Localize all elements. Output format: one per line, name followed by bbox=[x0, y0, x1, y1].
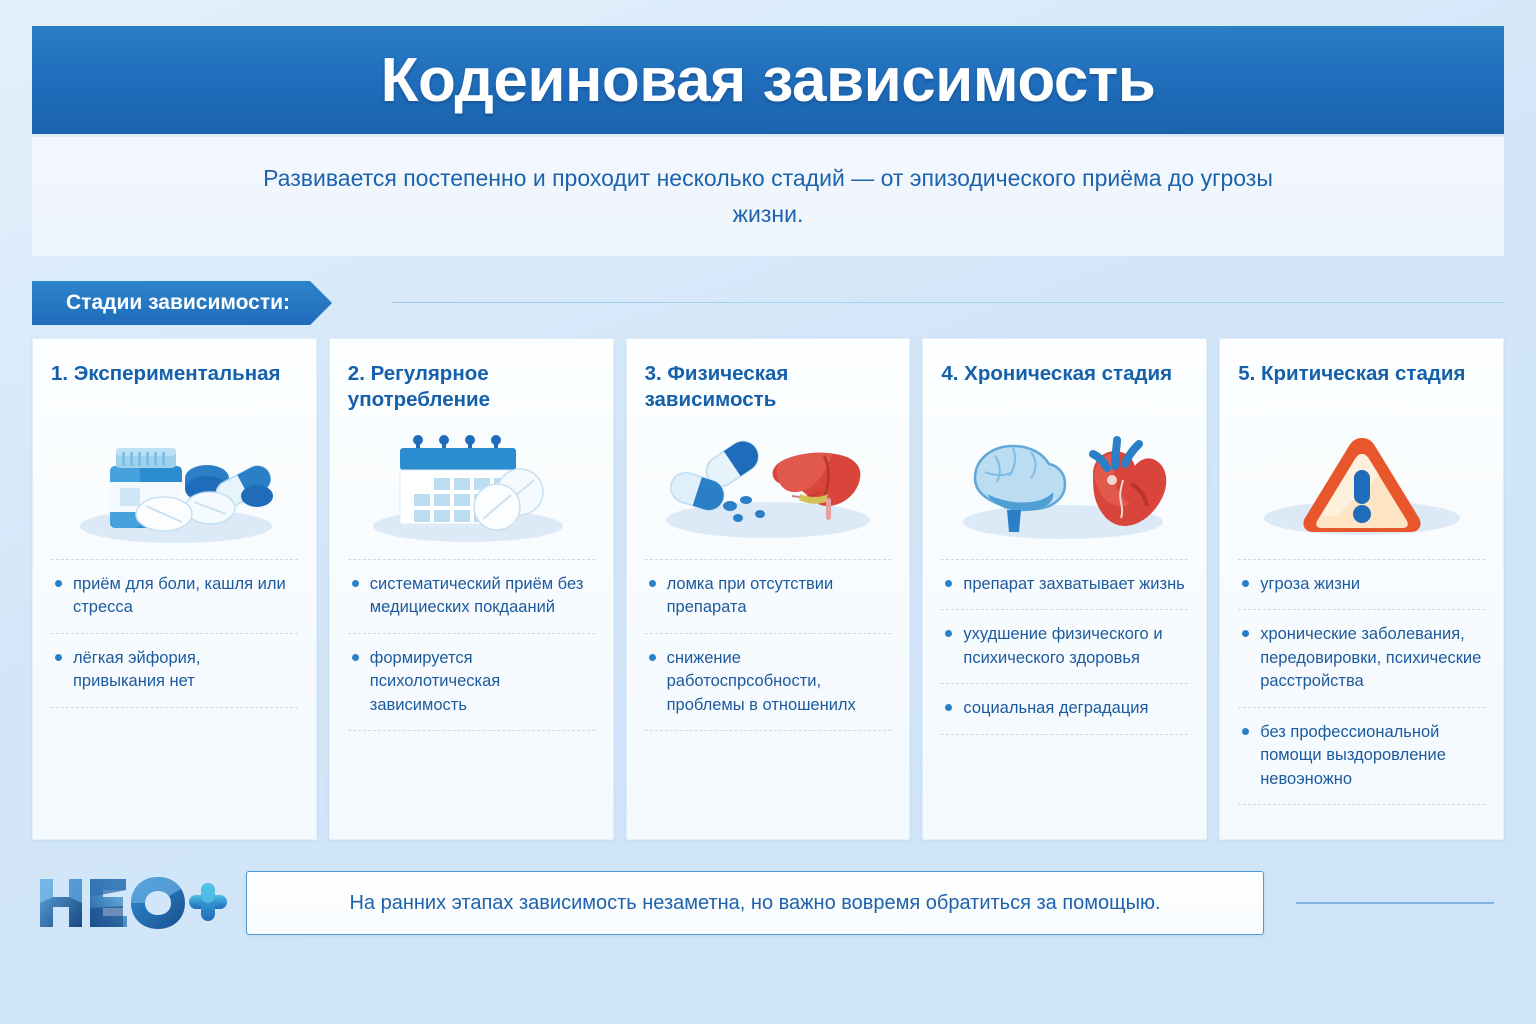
stage-cards: 1. Экспериментальная bbox=[32, 338, 1504, 840]
stage-card-5-title: 5. Критическая стадия bbox=[1238, 361, 1485, 415]
footer-note-box: На ранних этапах зависимость незаметна, … bbox=[246, 871, 1264, 935]
capsule-liver-icon bbox=[645, 421, 892, 549]
list-item: препарат захватывает жизнь bbox=[941, 559, 1188, 609]
list-item: хронические заболевания, передовировки, … bbox=[1238, 609, 1485, 706]
calendar-pills-icon bbox=[348, 421, 595, 549]
stage-card-2[interactable]: 2. Регулярное употребление bbox=[329, 338, 614, 840]
list-item: снижение работоспрсобности, проблемы в о… bbox=[645, 633, 892, 731]
footer-note: На ранних этапах зависимость незаметна, … bbox=[349, 892, 1160, 915]
banner-rule bbox=[392, 302, 1504, 303]
page-title: Кодеиновая зависимость bbox=[381, 45, 1156, 116]
stage-card-2-title: 2. Регулярное употребление bbox=[348, 361, 595, 415]
list-item: ломка при отсутствии препарата bbox=[645, 559, 892, 633]
list-item: систематический приём без медициеских по… bbox=[348, 559, 595, 633]
title-band: Кодеиновая зависимость bbox=[32, 26, 1504, 134]
stage-card-2-bullets: систематический приём без медициеских по… bbox=[348, 559, 595, 731]
stage-card-3[interactable]: 3. Физическая зависимость bbox=[626, 338, 911, 840]
brain-heart-icon bbox=[941, 421, 1188, 549]
list-item: без профессиональной помощи выздоровлени… bbox=[1238, 707, 1485, 805]
footer-rule bbox=[1296, 902, 1494, 904]
stage-card-1-title: 1. Экспериментальная bbox=[51, 361, 298, 415]
intro-panel: Развивается постепенно и проходит нескол… bbox=[32, 136, 1504, 256]
warning-triangle-icon bbox=[1238, 421, 1485, 549]
list-item: ухудшение физического и психического здо… bbox=[941, 609, 1188, 683]
stage-card-3-bullets: ломка при отсутствии препарата снижение … bbox=[645, 559, 892, 731]
section-banner-wrap: Стадии зависимости: bbox=[32, 281, 1504, 325]
stage-card-4[interactable]: 4. Хроническая стадия bbox=[922, 338, 1207, 840]
stage-card-1-bullets: приём для боли, кашля или стресса лёгкая… bbox=[51, 559, 298, 708]
pill-bottle-icon bbox=[51, 421, 298, 549]
list-item: приём для боли, кашля или стресса bbox=[51, 559, 298, 633]
list-item: формируется психолотическая зависимость bbox=[348, 633, 595, 731]
section-banner: Стадии зависимости: bbox=[32, 281, 332, 325]
stage-card-3-title: 3. Физическая зависимость bbox=[645, 361, 892, 415]
stage-card-5[interactable]: 5. Критическая стадия угроза жизни хрони… bbox=[1219, 338, 1504, 840]
stage-card-4-bullets: препарат захватывает жизнь ухудшение физ… bbox=[941, 559, 1188, 735]
list-item: угроза жизни bbox=[1238, 559, 1485, 609]
infographic-page: Кодеиновая зависимость Развивается посте… bbox=[0, 0, 1536, 1024]
stage-card-4-title: 4. Хроническая стадия bbox=[941, 361, 1188, 415]
list-item: социальная деградация bbox=[941, 683, 1188, 734]
stage-card-5-bullets: угроза жизни хронические заболевания, пе… bbox=[1238, 559, 1485, 805]
list-item: лёгкая эйфория, привыкания нет bbox=[51, 633, 298, 708]
footer: На ранних этапах зависимость незаметна, … bbox=[32, 858, 1504, 948]
stage-card-1[interactable]: 1. Экспериментальная bbox=[32, 338, 317, 840]
neo-plus-logo bbox=[32, 872, 232, 934]
section-banner-label: Стадии зависимости: bbox=[66, 291, 290, 315]
intro-text: Развивается постепенно и проходит нескол… bbox=[243, 161, 1293, 232]
